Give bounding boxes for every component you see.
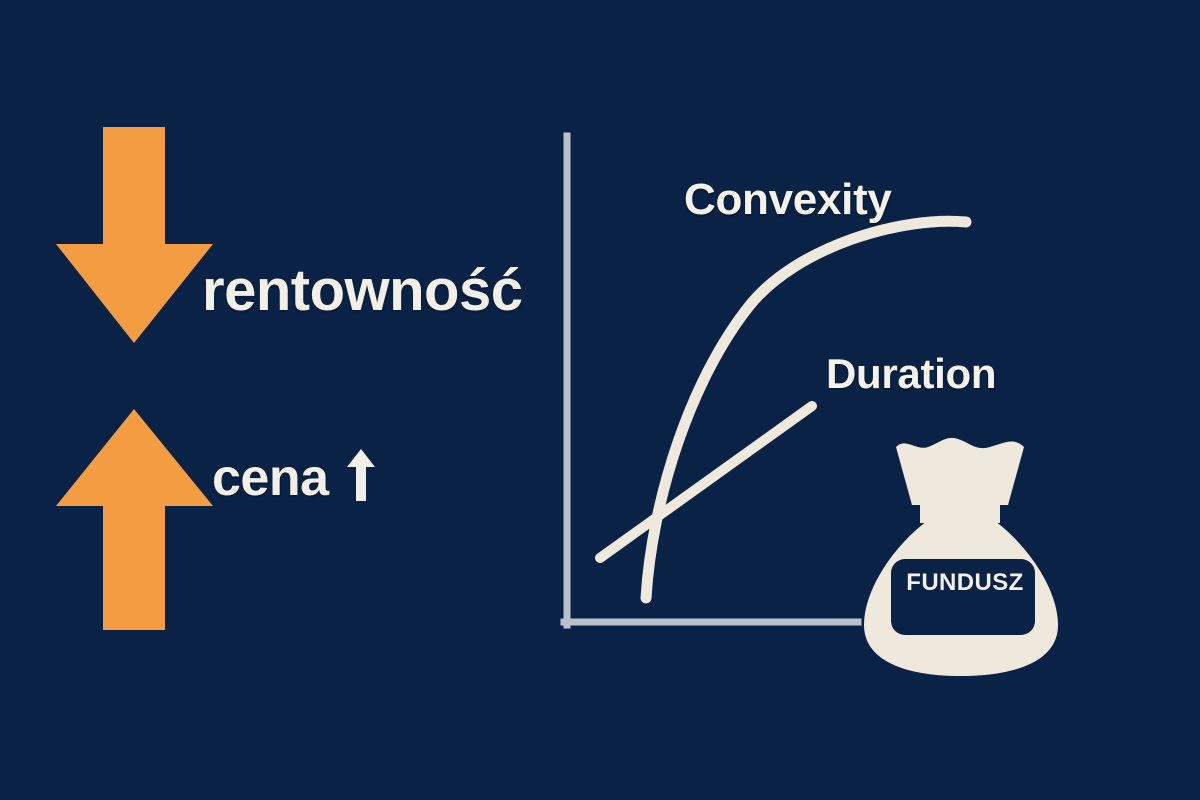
price-label: cena (212, 452, 329, 504)
duration-annotation-label: Duration (826, 353, 996, 395)
duration-convexity-chart: Convexity Duration FUNDUSZ (540, 0, 1200, 800)
infographic-canvas: rentowność cena Convexity Duration (0, 0, 1200, 800)
arrow-up-small-icon (344, 447, 378, 503)
arrow-down-icon (55, 120, 215, 350)
convexity-annotation-label: Convexity (684, 178, 892, 222)
chart-plot-area (540, 0, 1200, 800)
arrow-up-icon (55, 400, 215, 635)
fundusz-bag-label: FUNDUSZ (895, 571, 1035, 595)
yield-price-relationship-panel: rentowność cena (0, 0, 540, 800)
duration-series-line (600, 406, 812, 558)
yield-label: rentowność (202, 262, 523, 320)
money-bag-icon (858, 435, 1070, 680)
